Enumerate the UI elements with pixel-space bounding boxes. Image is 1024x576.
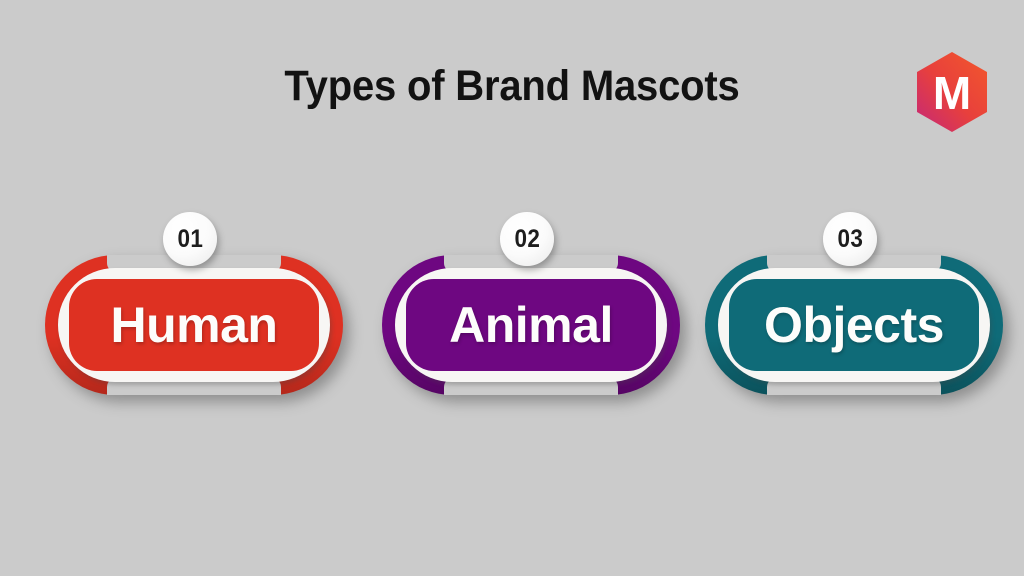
card-number-text: 03 xyxy=(837,225,863,254)
mascot-type-card[interactable]: Human 01 xyxy=(45,212,343,402)
page-title: Types of Brand Mascots xyxy=(36,62,988,111)
card-white-ring: Human xyxy=(58,268,330,382)
card-label: Human xyxy=(111,300,278,350)
card-outer-plate: Human xyxy=(45,255,343,395)
mascot-type-card[interactable]: Objects 03 xyxy=(705,212,1003,402)
card-number-badge: 02 xyxy=(500,212,554,266)
card-white-ring: Objects xyxy=(718,268,990,382)
card-number-badge: 01 xyxy=(163,212,217,266)
mascot-type-card[interactable]: Animal 02 xyxy=(382,212,680,402)
logo-letter: M xyxy=(933,67,971,119)
card-inner-panel: Animal xyxy=(406,279,656,371)
card-outer-plate: Objects xyxy=(705,255,1003,395)
card-label: Animal xyxy=(449,300,613,350)
card-number-text: 01 xyxy=(177,225,203,254)
card-inner-panel: Objects xyxy=(729,279,979,371)
card-number-text: 02 xyxy=(514,225,540,254)
card-outer-plate: Animal xyxy=(382,255,680,395)
card-inner-panel: Human xyxy=(69,279,319,371)
brand-logo: M xyxy=(913,50,991,134)
card-white-ring: Animal xyxy=(395,268,667,382)
card-label: Objects xyxy=(764,300,944,350)
card-number-badge: 03 xyxy=(823,212,877,266)
infographic-canvas: Types of Brand Mascots M Human xyxy=(0,0,1024,576)
